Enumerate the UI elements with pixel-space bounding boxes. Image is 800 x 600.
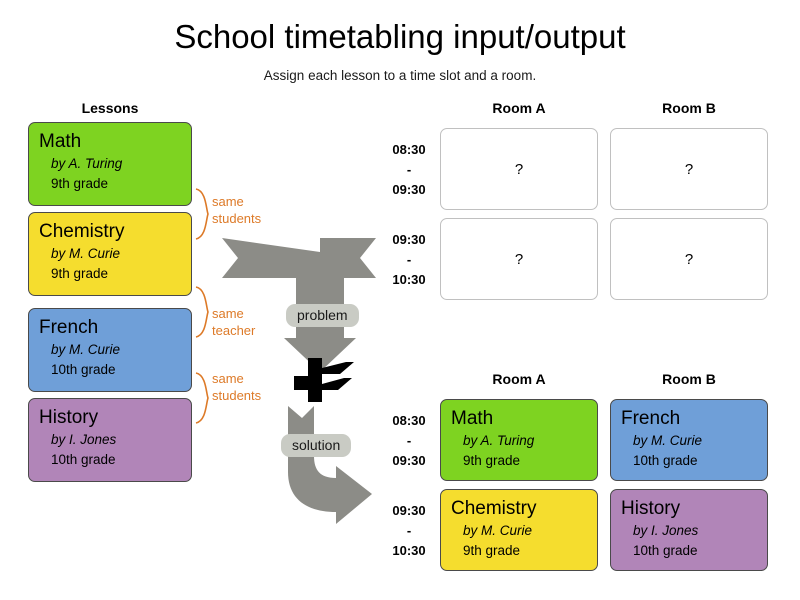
lesson-grade: 9th grade: [39, 174, 191, 194]
time-from: 09:30: [378, 230, 440, 250]
lessons-heading: Lessons: [28, 100, 192, 116]
lesson-teacher: by A. Turing: [451, 431, 597, 451]
lesson-grade: 10th grade: [39, 360, 191, 380]
lesson-card-chemistry[interactable]: Chemistry by M. Curie 9th grade: [28, 212, 192, 296]
time-dash: -: [378, 521, 440, 541]
lesson-name: Chemistry: [451, 496, 597, 521]
lesson-teacher: by I. Jones: [621, 521, 767, 541]
lesson-grade: 10th grade: [39, 450, 191, 470]
lesson-teacher: by M. Curie: [621, 431, 767, 451]
lesson-name: History: [621, 496, 767, 521]
time-from: 08:30: [378, 411, 440, 431]
output-cell-row1-room-b[interactable]: French by M. Curie 10th grade: [610, 399, 768, 481]
lesson-grade: 9th grade: [451, 541, 597, 561]
solution-badge: solution: [281, 434, 351, 457]
input-column-header-room-b: Room B: [610, 100, 768, 116]
time-to: 09:30: [378, 451, 440, 471]
brace-label-same-students-1: same students: [212, 193, 261, 227]
lesson-grade: 10th grade: [621, 541, 767, 561]
lesson-name: Chemistry: [39, 219, 191, 244]
lesson-teacher: by M. Curie: [39, 244, 191, 264]
time-to: 10:30: [378, 270, 440, 290]
time-to: 09:30: [378, 180, 440, 200]
brace-label-same-students-2: same students: [212, 370, 261, 404]
time-from: 08:30: [378, 140, 440, 160]
input-column-header-room-a: Room A: [440, 100, 598, 116]
lesson-card-math[interactable]: Math by A. Turing 9th grade: [28, 122, 192, 206]
time-dash: -: [378, 431, 440, 451]
input-cell-row1-room-b[interactable]: ?: [610, 128, 768, 210]
input-cell-row2-room-a[interactable]: ?: [440, 218, 598, 300]
lesson-grade: 9th grade: [39, 264, 191, 284]
brace-same-teacher: [194, 286, 210, 338]
timefold-logo: [288, 358, 354, 407]
lesson-teacher: by A. Turing: [39, 154, 191, 174]
output-cell-row1-room-a[interactable]: Math by A. Turing 9th grade: [440, 399, 598, 481]
input-cell-row1-room-a[interactable]: ?: [440, 128, 598, 210]
lesson-teacher: by M. Curie: [39, 340, 191, 360]
lesson-name: Math: [451, 406, 597, 431]
input-time-label-row-1: 08:30 - 09:30: [378, 140, 440, 200]
output-column-header-room-a: Room A: [440, 371, 598, 387]
input-cell-row2-room-b[interactable]: ?: [610, 218, 768, 300]
output-cell-row2-room-a[interactable]: Chemistry by M. Curie 9th grade: [440, 489, 598, 571]
lesson-name: French: [621, 406, 767, 431]
lesson-grade: 9th grade: [451, 451, 597, 471]
brace-same-students-1: [194, 188, 210, 240]
time-from: 09:30: [378, 501, 440, 521]
lesson-card-history[interactable]: History by I. Jones 10th grade: [28, 398, 192, 482]
brace-same-students-2: [194, 372, 210, 424]
output-cell-row2-room-b[interactable]: History by I. Jones 10th grade: [610, 489, 768, 571]
time-dash: -: [378, 250, 440, 270]
lesson-card-french[interactable]: French by M. Curie 10th grade: [28, 308, 192, 392]
diagram-canvas: School timetabling input/output Assign e…: [0, 0, 800, 600]
lesson-name: Math: [39, 129, 191, 154]
lesson-name: French: [39, 315, 191, 340]
page-title: School timetabling input/output: [0, 18, 800, 56]
lesson-name: History: [39, 405, 191, 430]
output-time-label-row-1: 08:30 - 09:30: [378, 411, 440, 471]
time-to: 10:30: [378, 541, 440, 561]
problem-badge: problem: [286, 304, 359, 327]
lesson-grade: 10th grade: [621, 451, 767, 471]
output-column-header-room-b: Room B: [610, 371, 768, 387]
page-subtitle: Assign each lesson to a time slot and a …: [0, 68, 800, 83]
input-time-label-row-2: 09:30 - 10:30: [378, 230, 440, 290]
output-time-label-row-2: 09:30 - 10:30: [378, 501, 440, 561]
lesson-teacher: by M. Curie: [451, 521, 597, 541]
time-dash: -: [378, 160, 440, 180]
lesson-teacher: by I. Jones: [39, 430, 191, 450]
brace-label-same-teacher: same teacher: [212, 305, 255, 339]
